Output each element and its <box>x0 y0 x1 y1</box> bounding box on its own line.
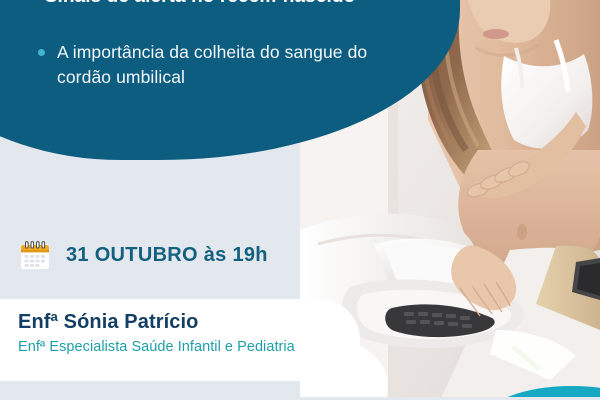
speaker-card: Enfª Sónia Patrício Enfª Especialista Sa… <box>0 299 360 381</box>
bullet-dot-icon <box>38 49 45 56</box>
list-item: A importância da colheita do sangue do c… <box>38 40 368 90</box>
schedule-row: 31 OUTUBRO às 19h <box>18 238 268 272</box>
speaker-card-content: Enfª Sónia Patrício Enfª Especialista Sa… <box>18 311 348 355</box>
event-poster: Sinais de alerta no recém-nascido A impo… <box>0 0 600 400</box>
event-date-text: 31 OUTUBRO às 19h <box>66 244 268 267</box>
topic-text: A importância da colheita do sangue do c… <box>57 40 368 90</box>
speaker-name: Enfª Sónia Patrício <box>18 311 348 334</box>
speaker-role: Enfª Especialista Saúde Infantil e Pedia… <box>18 339 348 355</box>
page-title: Sinais de alerta no recém-nascido <box>0 0 400 8</box>
calendar-icon <box>18 238 52 272</box>
